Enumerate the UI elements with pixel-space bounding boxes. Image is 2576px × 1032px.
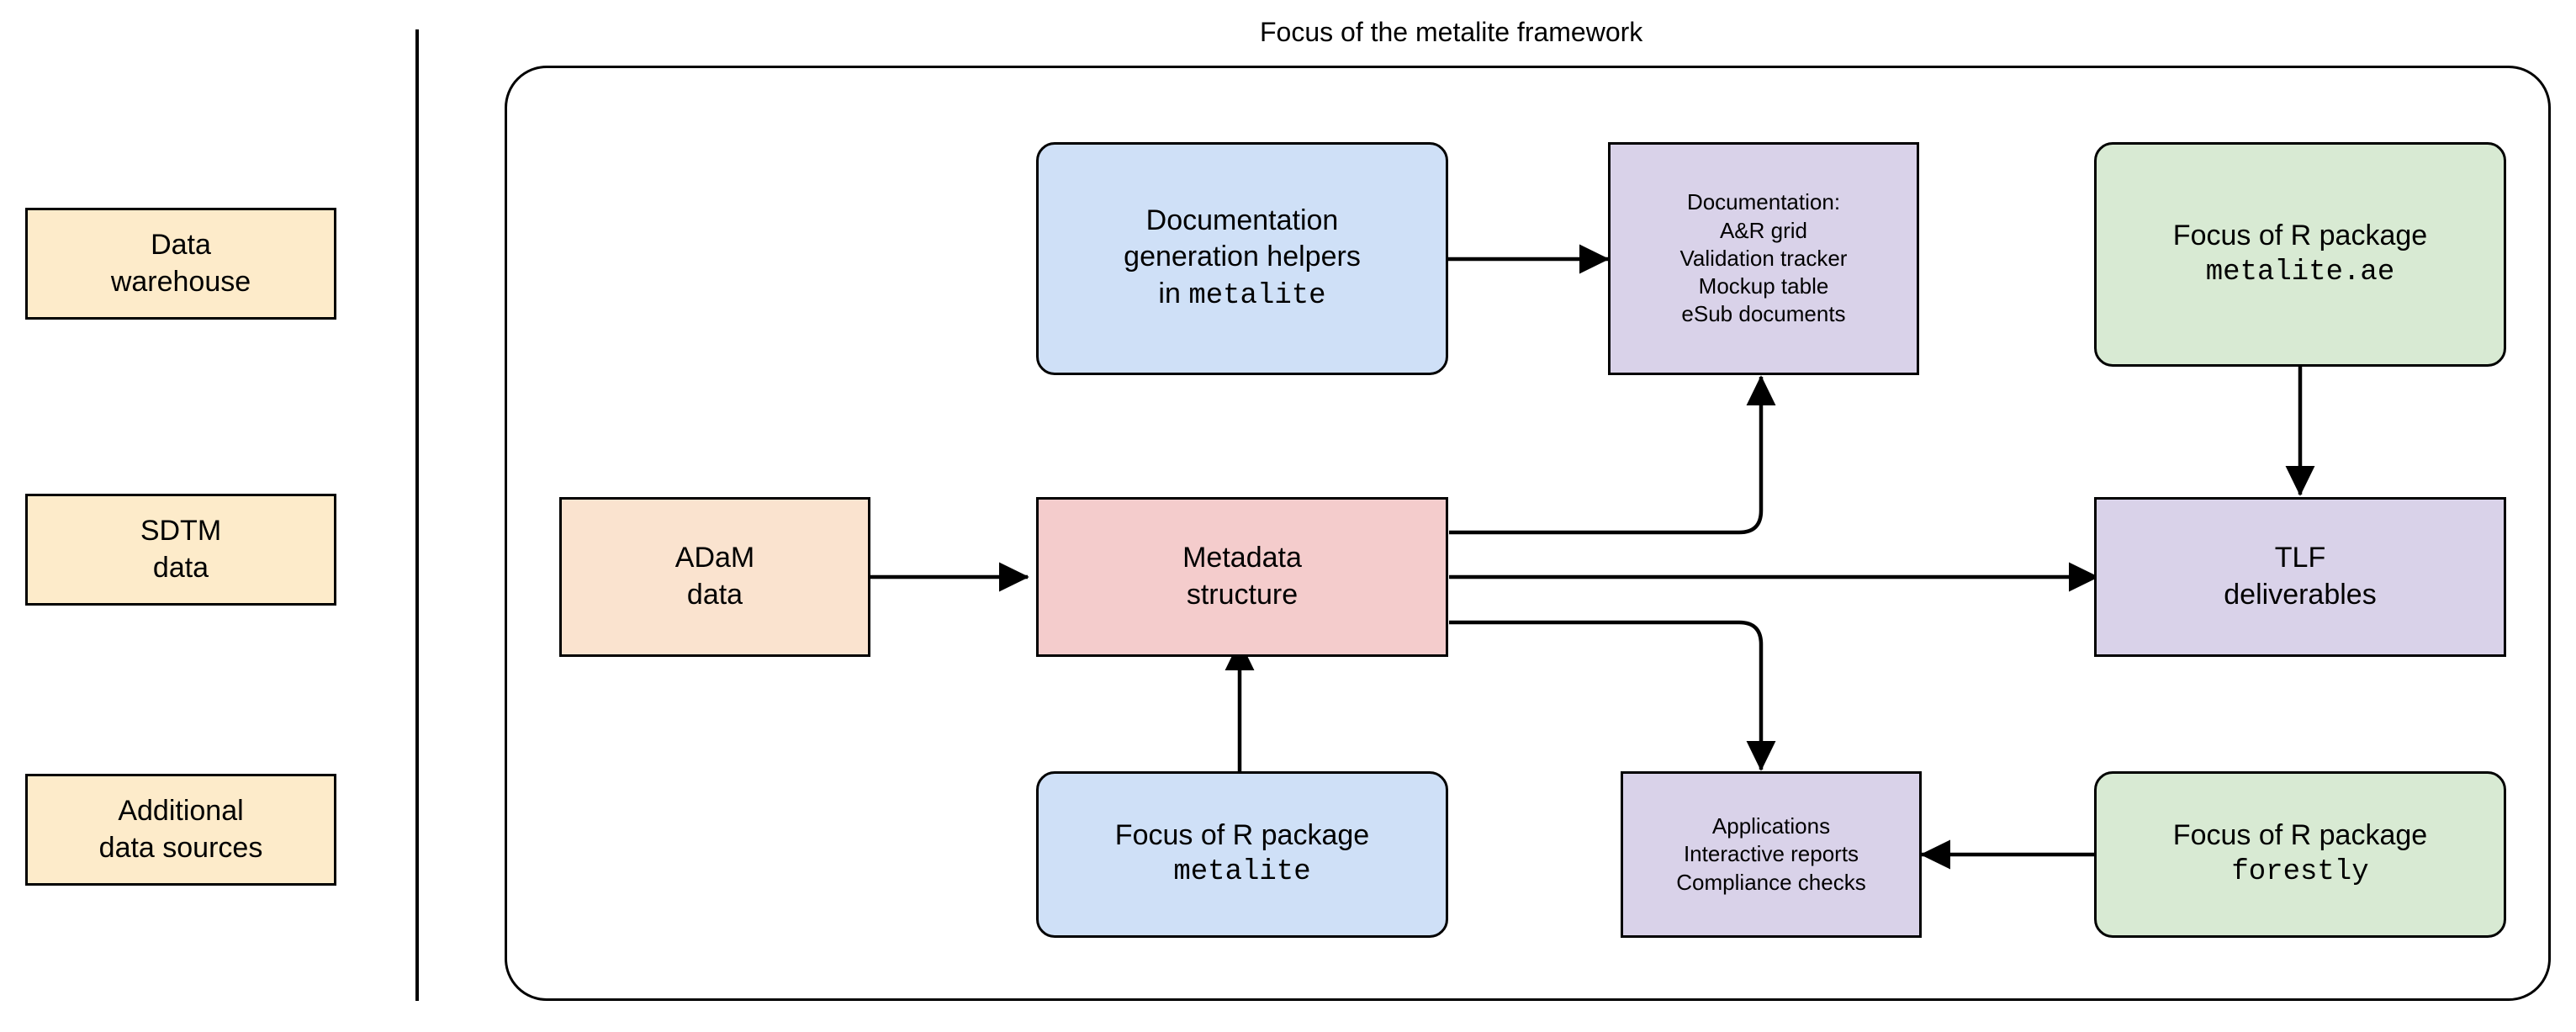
node-metalite-package: Focus of R package metalite [1036, 771, 1448, 938]
node-applications: Applications Interactive reports Complia… [1621, 771, 1922, 938]
node-documentation-line-3: Validation tracker [1680, 245, 1848, 273]
node-applications-line-2: Interactive reports [1684, 840, 1859, 868]
diagram-canvas: Data warehouse SDTM data Additional data… [0, 0, 2576, 1032]
node-forestly-line-2-package: forestly [2231, 855, 2368, 892]
node-forestly-package: Focus of R package forestly [2094, 771, 2506, 938]
node-adam-line-1: ADaM [675, 540, 754, 577]
node-tlf-deliverables: TLF deliverables [2094, 497, 2506, 657]
node-documentation-generation-helpers: Documentation generation helpers in meta… [1036, 142, 1448, 375]
node-adam-line-2: data [687, 577, 743, 614]
node-applications-line-3: Compliance checks [1676, 869, 1865, 897]
node-metalite-ae-line-1: Focus of R package [2173, 218, 2427, 255]
node-doc-helpers-line-2: generation helpers [1124, 239, 1361, 276]
node-doc-helpers-line-3-package: metalite [1188, 280, 1325, 312]
node-metadata-line-1: Metadata [1182, 540, 1302, 577]
node-applications-line-1: Applications [1712, 812, 1830, 840]
node-doc-helpers-line-1: Documentation [1146, 203, 1339, 240]
node-metadata-structure: Metadata structure [1036, 497, 1448, 657]
node-documentation-line-2: A&R grid [1720, 217, 1807, 245]
edge-metadata-to-documentation [1449, 377, 1761, 532]
node-tlf-line-2: deliverables [2224, 577, 2376, 614]
node-doc-helpers-line-3-prefix: in [1158, 278, 1188, 310]
node-doc-helpers-line-3: in metalite [1158, 276, 1325, 315]
node-forestly-line-1: Focus of R package [2173, 818, 2427, 855]
node-documentation-outputs: Documentation: A&R grid Validation track… [1608, 142, 1919, 375]
node-documentation-line-1: Documentation: [1687, 188, 1840, 216]
node-metadata-line-2: structure [1187, 577, 1298, 614]
node-metalite-ae-line-2-package: metalite.ae [2206, 255, 2394, 292]
node-adam-data: ADaM data [559, 497, 870, 657]
node-metalite-ae-package: Focus of R package metalite.ae [2094, 142, 2506, 367]
edge-metadata-to-applications [1449, 622, 1761, 770]
node-metalite-line-1: Focus of R package [1115, 818, 1369, 855]
node-metalite-line-2-package: metalite [1173, 855, 1310, 892]
node-tlf-line-1: TLF [2275, 540, 2325, 577]
node-documentation-line-4: Mockup table [1699, 273, 1829, 300]
node-documentation-line-5: eSub documents [1681, 300, 1845, 328]
